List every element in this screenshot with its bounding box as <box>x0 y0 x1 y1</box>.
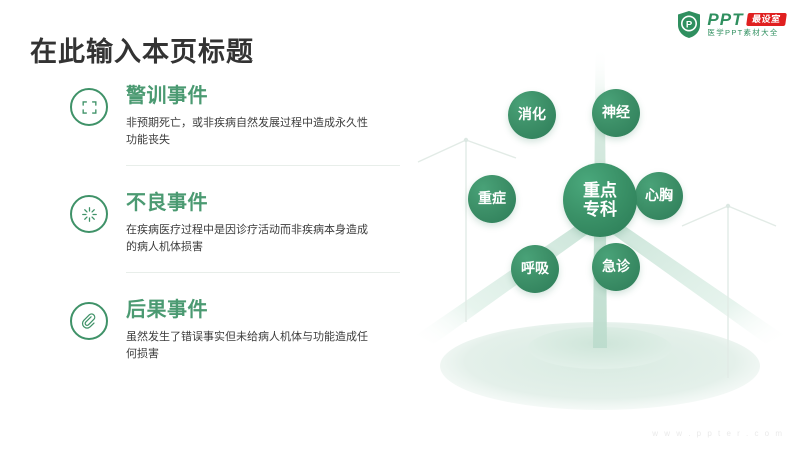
feature-description: 在疾病医疗过程中是因诊疗活动而非疾病本身造成的病人机体损害 <box>126 222 376 256</box>
node-label: 消化 <box>518 107 546 123</box>
sunburst-icon <box>70 195 108 233</box>
node-label: 心胸 <box>645 188 673 204</box>
diagram-node-digestive[interactable]: 消化 <box>508 91 556 139</box>
center-label-line1: 重点 <box>583 181 617 200</box>
node-label: 呼吸 <box>521 261 549 277</box>
specialty-diagram: 重点 专科 消化 神经 重症 心胸 呼吸 急诊 <box>400 30 800 450</box>
feature-description: 非预期死亡，或非疾病自然发展过程中造成永久性功能丧失 <box>126 115 376 149</box>
diagram-background <box>400 30 800 450</box>
feature-divider <box>126 272 400 273</box>
focus-frame-icon <box>70 88 108 126</box>
node-label: 神经 <box>602 105 630 121</box>
slide-canvas: P PPT 最设室 医学PPT素材大全 在此输入本页标题 警训事件 <box>0 0 800 450</box>
node-label: 重症 <box>478 191 506 207</box>
diagram-node-cardiothoracic[interactable]: 心胸 <box>635 172 683 220</box>
feature-item-adverse-event[interactable]: 不良事件 在疾病医疗过程中是因诊疗活动而非疾病本身造成的病人机体损害 <box>70 191 400 269</box>
feature-heading: 警训事件 <box>126 84 400 108</box>
feature-item-warning-event[interactable]: 警训事件 非预期死亡，或非疾病自然发展过程中造成永久性功能丧失 <box>70 84 400 162</box>
paperclip-icon <box>70 302 108 340</box>
center-label-line2: 专科 <box>583 200 617 219</box>
feature-heading: 不良事件 <box>126 191 400 215</box>
diagram-node-respiratory[interactable]: 呼吸 <box>511 245 559 293</box>
diagram-center-node[interactable]: 重点 专科 <box>563 163 637 237</box>
page-title: 在此输入本页标题 <box>30 36 254 68</box>
brand-top-row: PPT 最设室 <box>707 11 786 28</box>
feature-list: 警训事件 非预期死亡，或非疾病自然发展过程中造成永久性功能丧失 <box>70 84 400 382</box>
diagram-node-emergency[interactable]: 急诊 <box>592 243 640 291</box>
site-watermark: w w w . p p t e r . c o m <box>652 429 784 438</box>
diagram-node-neurology[interactable]: 神经 <box>592 89 640 137</box>
feature-description: 虽然发生了错误事实但未给病人机体与功能造成任何损害 <box>126 329 376 363</box>
brand-name: PPT <box>707 11 743 28</box>
feature-divider <box>126 165 400 166</box>
feature-item-consequence-event[interactable]: 后果事件 虽然发生了错误事实但未给病人机体与功能造成任何损害 <box>70 298 400 376</box>
node-label: 急诊 <box>602 259 630 275</box>
diagram-node-critical-care[interactable]: 重症 <box>468 175 516 223</box>
brand-badge: 最设室 <box>747 13 787 26</box>
svg-text:P: P <box>686 19 693 30</box>
feature-heading: 后果事件 <box>126 298 400 322</box>
